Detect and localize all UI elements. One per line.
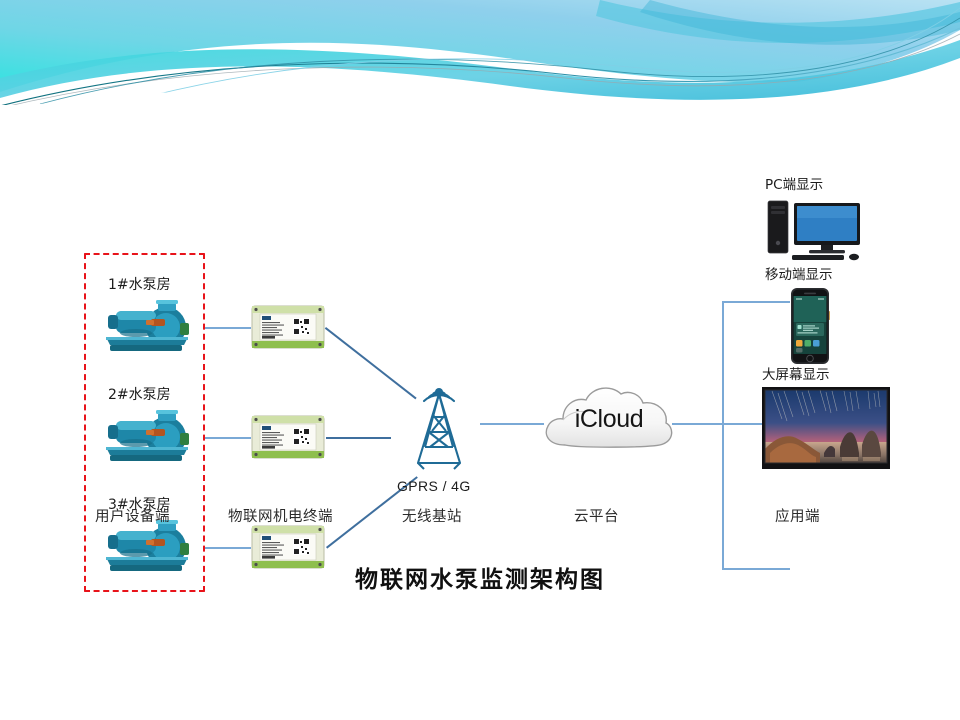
smartphone-icon (790, 287, 830, 370)
pump-label-2: 2#水泵房 (108, 384, 171, 404)
column-label-cloud-platform: 云平台 (574, 505, 619, 526)
figure-title: 物联网水泵监测架构图 (0, 560, 960, 594)
column-label-base-station: 无线基站 (402, 505, 462, 526)
water-pump-icon (96, 407, 196, 469)
iot-terminal-icon (251, 413, 325, 461)
cell-tower-icon (394, 363, 484, 475)
app-label-mobile: 移动端显示 (765, 263, 833, 283)
column-label-user-devices: 用户设备端 (95, 505, 170, 526)
column-label-applications: 应用端 (775, 505, 820, 526)
presentation-slide: 1#水泵房 2#水泵房 (0, 0, 960, 720)
cloud-label: iCloud (539, 373, 679, 465)
tower-caption: GPRS / 4G (397, 478, 471, 494)
connector-bus-to-pc (722, 301, 790, 303)
cloud-icon: iCloud (539, 373, 679, 465)
application-bus-vertical (722, 301, 724, 569)
header-wave-decoration (0, 0, 960, 110)
water-pump-icon (96, 297, 196, 359)
connector-pump2-to-terminal2 (205, 437, 251, 439)
iot-terminal-icon (251, 303, 325, 351)
pump-label-1: 1#水泵房 (108, 274, 171, 294)
app-label-pc: PC端显示 (765, 173, 823, 193)
desktop-computer-icon (766, 197, 864, 268)
connector-pump3-to-terminal3 (205, 547, 251, 549)
connector-pump1-to-terminal1 (205, 327, 251, 329)
diagram-canvas: 1#水泵房 2#水泵房 (0, 105, 960, 720)
column-label-iot-terminals: 物联网机电终端 (228, 505, 333, 526)
connector-terminal2-to-tower (326, 437, 391, 439)
connector-tower-to-cloud (480, 423, 544, 425)
large-screen-display-icon (762, 387, 890, 474)
app-label-bigscreen: 大屏幕显示 (762, 363, 830, 383)
